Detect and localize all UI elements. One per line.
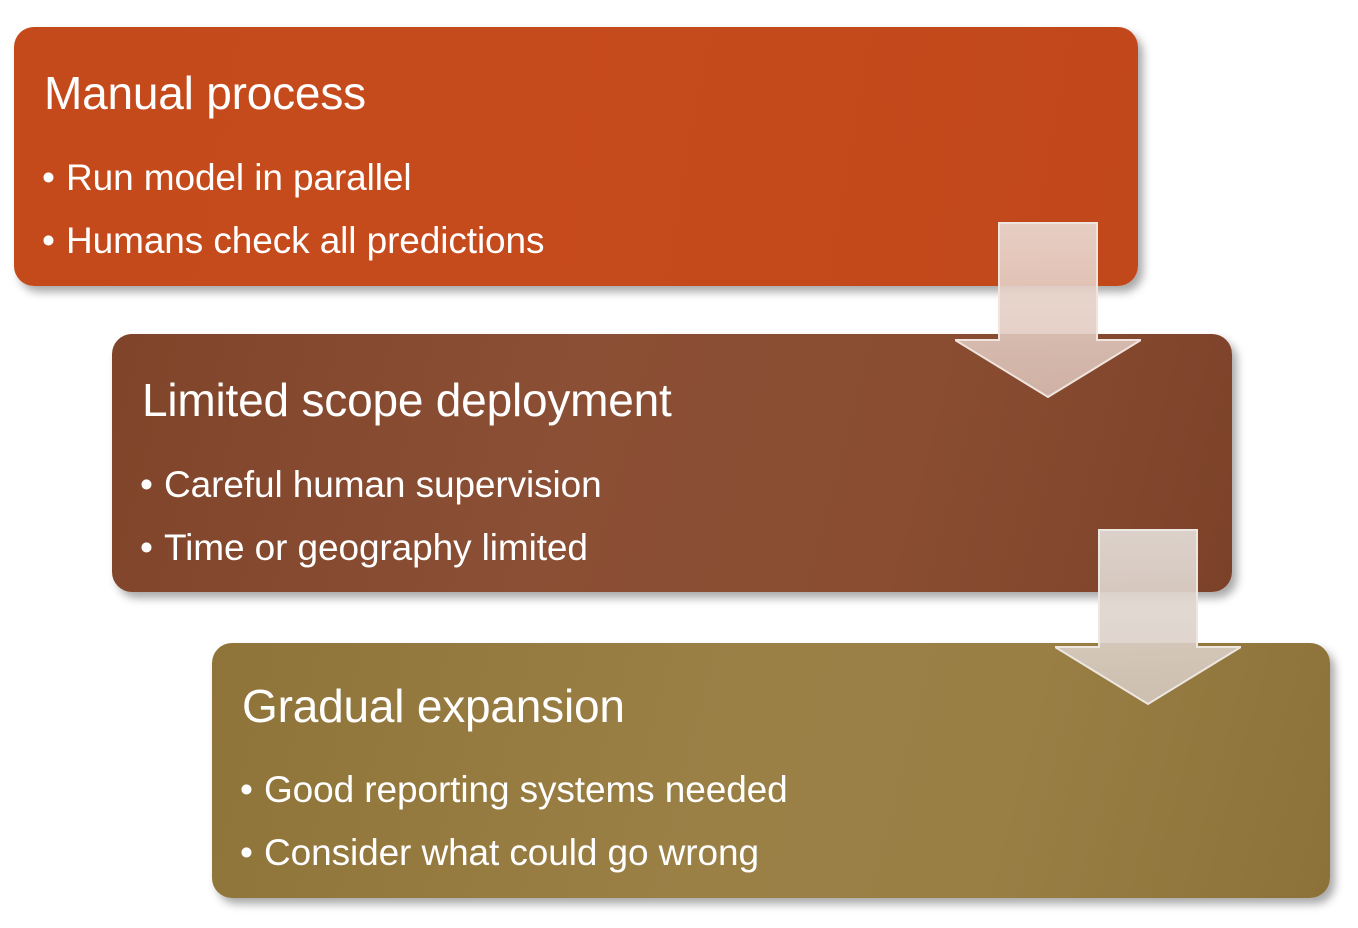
stage-title: Gradual expansion (242, 683, 625, 729)
bullet-text: Time or geography limited (164, 527, 588, 568)
stage-bullet-list: •Run model in parallel •Humans check all… (42, 159, 544, 259)
diagram-canvas: Manual process •Run model in parallel •H… (0, 0, 1358, 928)
bullet-dot-icon: • (42, 222, 66, 259)
bullet-text: Humans check all predictions (66, 220, 544, 261)
bullet-dot-icon: • (240, 771, 264, 808)
bullet-dot-icon: • (240, 834, 264, 871)
stage-title: Limited scope deployment (142, 377, 672, 423)
stage-title: Manual process (44, 70, 366, 116)
stage-bullet-list: •Careful human supervision •Time or geog… (140, 466, 602, 566)
bullet-item: •Good reporting systems needed (240, 771, 788, 808)
bullet-dot-icon: • (42, 159, 66, 196)
bullet-text: Consider what could go wrong (264, 832, 759, 873)
bullet-text: Run model in parallel (66, 157, 411, 198)
stage-bullet-list: •Good reporting systems needed •Consider… (240, 771, 788, 871)
bullet-item: •Time or geography limited (140, 529, 602, 566)
bullet-item: •Humans check all predictions (42, 222, 544, 259)
bullet-dot-icon: • (140, 466, 164, 503)
bullet-text: Careful human supervision (164, 464, 602, 505)
bullet-item: •Careful human supervision (140, 466, 602, 503)
bullet-item: •Consider what could go wrong (240, 834, 788, 871)
bullet-text: Good reporting systems needed (264, 769, 788, 810)
bullet-dot-icon: • (140, 529, 164, 566)
stage-box-limited-scope-deployment[interactable]: Limited scope deployment •Careful human … (112, 334, 1232, 592)
stage-box-manual-process[interactable]: Manual process •Run model in parallel •H… (14, 27, 1138, 286)
bullet-item: •Run model in parallel (42, 159, 544, 196)
stage-box-gradual-expansion[interactable]: Gradual expansion •Good reporting system… (212, 643, 1330, 898)
